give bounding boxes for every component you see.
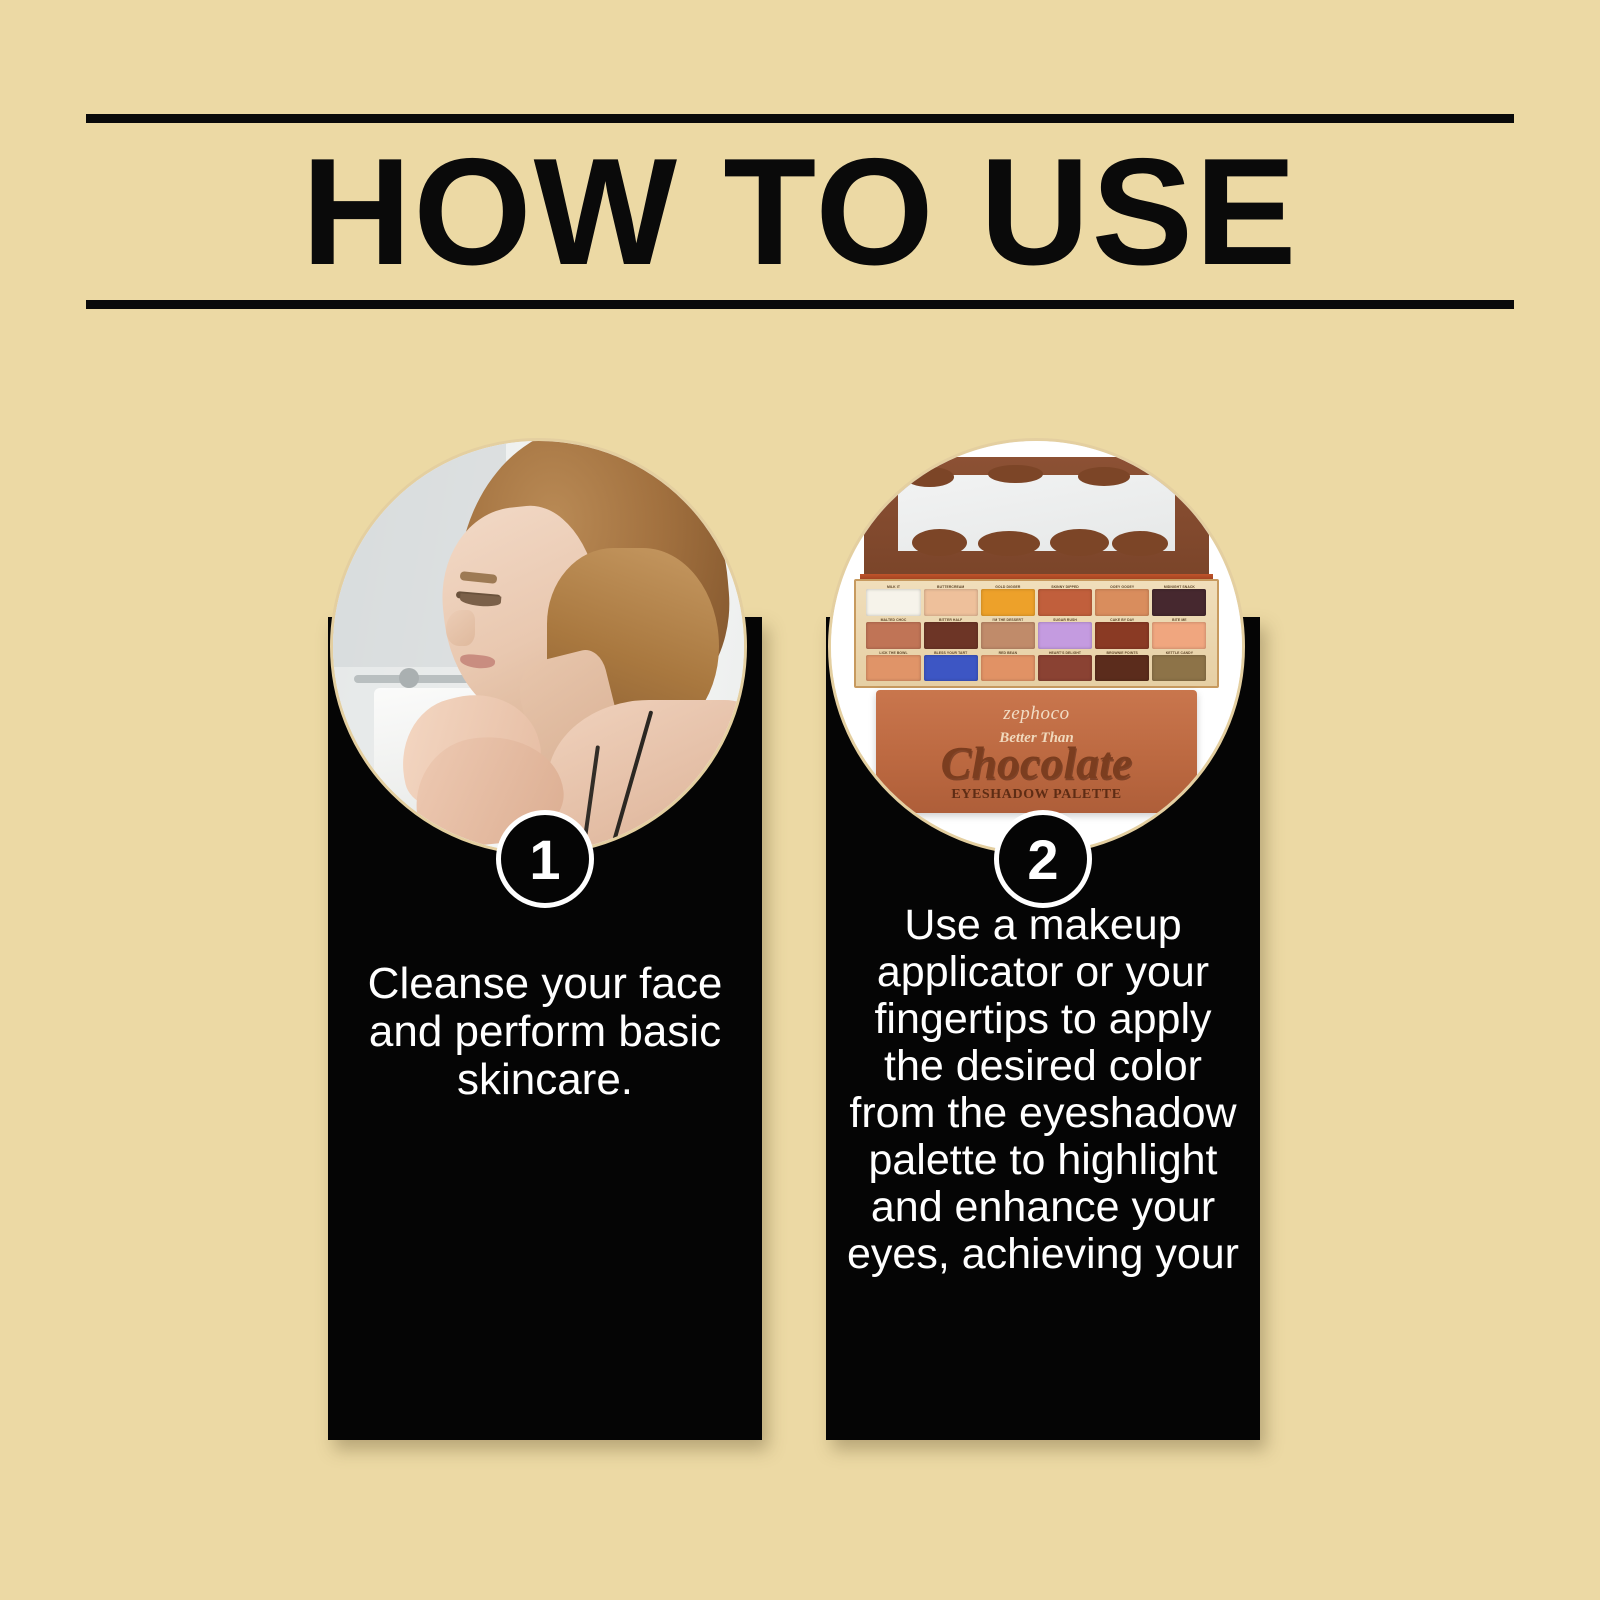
step-1-description: Cleanse your face and perform basic skin…: [344, 960, 746, 1104]
bathroom-background-image: [333, 441, 744, 852]
chocolate-drip: [1112, 531, 1167, 556]
eyeshadow-pan-cell: SKINNY DIPPED: [1038, 585, 1092, 616]
eyeshadow-pan-cell: BUTTERCREAM: [924, 585, 978, 616]
eyeshadow-pan: [924, 589, 978, 616]
eyeshadow-pan-cell: LICK THE BOWL: [866, 651, 920, 682]
product-subtitle: EYESHADOW PALETTE: [876, 787, 1197, 803]
eyeshadow-pan-cell: MIDNIGHT SNACK: [1152, 585, 1206, 616]
step-1-photo: [330, 438, 747, 855]
eyeshadow-pan: [866, 589, 920, 616]
eyeshadow-pan: [1152, 622, 1206, 649]
eyeshadow-pan-cell: SUGAR RUSH: [1038, 618, 1092, 649]
eyeshadow-pan-cell: BROWNIE POINTS: [1095, 651, 1149, 682]
step-2-number-badge: 2: [994, 810, 1092, 908]
header-rule-bottom: [86, 300, 1514, 309]
eyeshadow-pan-label: RED BEAN: [981, 651, 1035, 655]
eyeshadow-pan: [866, 622, 920, 649]
eyeshadow-pan: [1095, 655, 1149, 682]
palette-lid: [864, 457, 1209, 580]
eyeshadow-pan-cell: MALTED CHOC: [866, 618, 920, 649]
eyeshadow-pan-label: BROWNIE POINTS: [1095, 651, 1149, 655]
header-rule-top: [86, 114, 1514, 123]
step-1-number-badge: 1: [496, 810, 594, 908]
product-name-line2: Chocolate: [876, 739, 1197, 787]
eyeshadow-pan-cell: BITE ME: [1152, 618, 1206, 649]
eyeshadow-pan-cell: BITTER HALF: [924, 618, 978, 649]
eyeshadow-pan: [1095, 622, 1149, 649]
eyeshadow-pan-cell: MILK IT: [866, 585, 920, 616]
eyeshadow-pan: [981, 622, 1035, 649]
eyeshadow-pan-label: KETTLE CANDY: [1152, 651, 1206, 655]
eyeshadow-pan: [1038, 622, 1092, 649]
step-card-1: Cleanse your face and perform basic skin…: [328, 430, 762, 1490]
eyeshadow-pan: [1095, 589, 1149, 616]
eyeshadow-pan: [866, 655, 920, 682]
eyeshadow-pan: [1038, 589, 1092, 616]
page-header: HOW TO USE: [86, 114, 1514, 309]
steps-container: Cleanse your face and perform basic skin…: [0, 430, 1600, 1490]
rail-knob: [399, 668, 419, 688]
eyeshadow-pan-cell: GOLD DIGGER: [981, 585, 1035, 616]
eyeshadow-pan: [1038, 655, 1092, 682]
step-card-2: Use a makeup applicator or your fingerti…: [826, 430, 1260, 1490]
palette-pan-tray: MILK ITBUTTERCREAMGOLD DIGGERSKINNY DIPP…: [854, 579, 1220, 688]
eyeshadow-pan: [924, 622, 978, 649]
brand-name: zephoco: [876, 703, 1197, 725]
step-2-description: Use a makeup applicator or your fingerti…: [842, 902, 1244, 1278]
chocolate-drip: [1078, 467, 1130, 485]
eyeshadow-pan-label: HEART'S DELIGHT: [1038, 651, 1092, 655]
chocolate-drip: [905, 467, 953, 487]
eyeshadow-pan: [981, 589, 1035, 616]
eyeshadow-pan-cell: OOEY GOOEY: [1095, 585, 1149, 616]
eyeshadow-pan-cell: CAKE BY DAY: [1095, 618, 1149, 649]
eyeshadow-pan-cell: BLESS YOUR TART: [924, 651, 978, 682]
eyeshadow-pan-cell: KETTLE CANDY: [1152, 651, 1206, 682]
chocolate-drip: [912, 529, 967, 556]
product-label-plate: zephoco Better Than Chocolate EYESHADOW …: [876, 690, 1197, 813]
step-2-photo: MILK ITBUTTERCREAMGOLD DIGGERSKINNY DIPP…: [828, 438, 1245, 855]
eyeshadow-pan-label: BLESS YOUR TART: [924, 651, 978, 655]
eyeshadow-pan-label: LICK THE BOWL: [866, 651, 920, 655]
chocolate-drip: [978, 531, 1040, 556]
eyeshadow-pan: [924, 655, 978, 682]
page-title: HOW TO USE: [86, 130, 1514, 294]
eyeshadow-pan: [981, 655, 1035, 682]
eyeshadow-pan-grid: MILK ITBUTTERCREAMGOLD DIGGERSKINNY DIPP…: [866, 585, 1206, 682]
nose-shape: [446, 610, 475, 647]
chocolate-drip: [1050, 529, 1109, 556]
eyeshadow-pan-cell: HEART'S DELIGHT: [1038, 651, 1092, 682]
product-background: MILK ITBUTTERCREAMGOLD DIGGERSKINNY DIPP…: [831, 441, 1242, 852]
eyeshadow-pan: [1152, 655, 1206, 682]
eyeshadow-pan-cell: I'M THE DESSERT: [981, 618, 1035, 649]
eyeshadow-pan: [1152, 589, 1206, 616]
eyeshadow-pan-cell: RED BEAN: [981, 651, 1035, 682]
